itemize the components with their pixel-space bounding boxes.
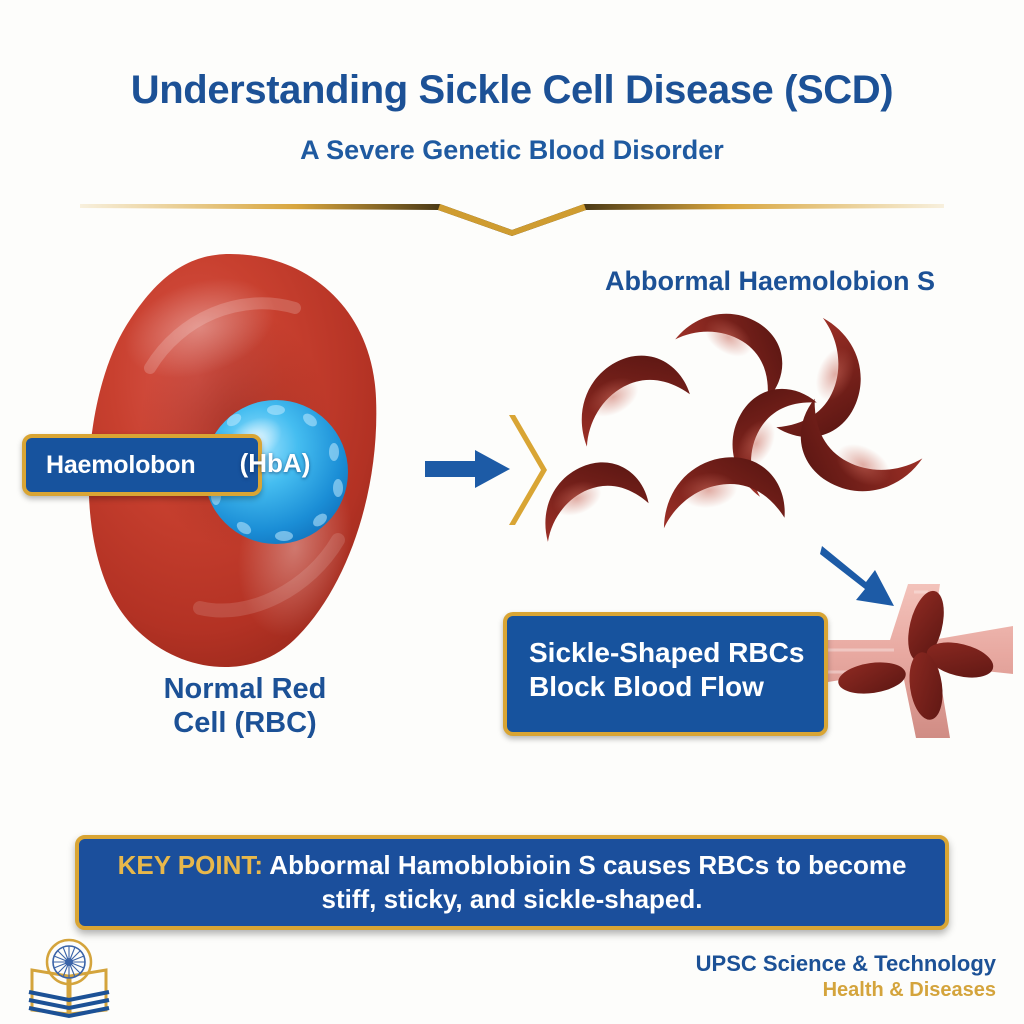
block-plaque-line2: Block Blood Flow	[529, 670, 824, 704]
footer-main-text: UPSC Science & Technology	[696, 950, 996, 978]
haemoglobin-label-text: Haemolobon	[46, 451, 195, 480]
block-blood-flow-plaque[interactable]: Sickle-Shaped RBCs Block Blood Flow	[503, 612, 828, 736]
key-point-banner[interactable]: KEY POINT: Abbormal Hamoblobioin S cause…	[75, 835, 949, 930]
footer-sub-text: Health & Diseases	[696, 978, 996, 1003]
gold-ornament-divider-icon	[80, 190, 944, 236]
key-point-text: KEY POINT: Abbormal Hamoblobioin S cause…	[105, 849, 919, 916]
haemoglobin-label-plaque[interactable]: Haemolobon	[22, 434, 262, 496]
block-plaque-line1: Sickle-Shaped RBCs	[529, 636, 824, 670]
normal-rbc-caption-line1: Normal Red	[164, 673, 327, 705]
book-ashoka-chakra-logo-icon	[26, 936, 112, 1020]
infographic-canvas: Understanding Sickle Cell Disease (SCD) …	[0, 0, 1024, 1024]
page-subtitle: A Severe Genetic Blood Disorder	[0, 135, 1024, 166]
normal-rbc-caption-line2: Cell (RBC)	[173, 707, 316, 739]
sickle-cells-heading: Abbormal Haemolobion S	[560, 266, 980, 297]
key-point-tag: KEY POINT:	[118, 850, 263, 880]
footer-branding: UPSC Science & Technology Health & Disea…	[696, 950, 996, 1003]
blue-right-arrow-icon	[425, 448, 510, 490]
key-point-body: Abbormal Hamoblobioin S causes RBCs to b…	[263, 850, 906, 913]
blocked-blood-vessel-illustration	[828, 578, 1013, 763]
normal-rbc-caption: Normal Red Cell (RBC)	[95, 672, 395, 740]
page-title: Understanding Sickle Cell Disease (SCD)	[0, 68, 1024, 113]
